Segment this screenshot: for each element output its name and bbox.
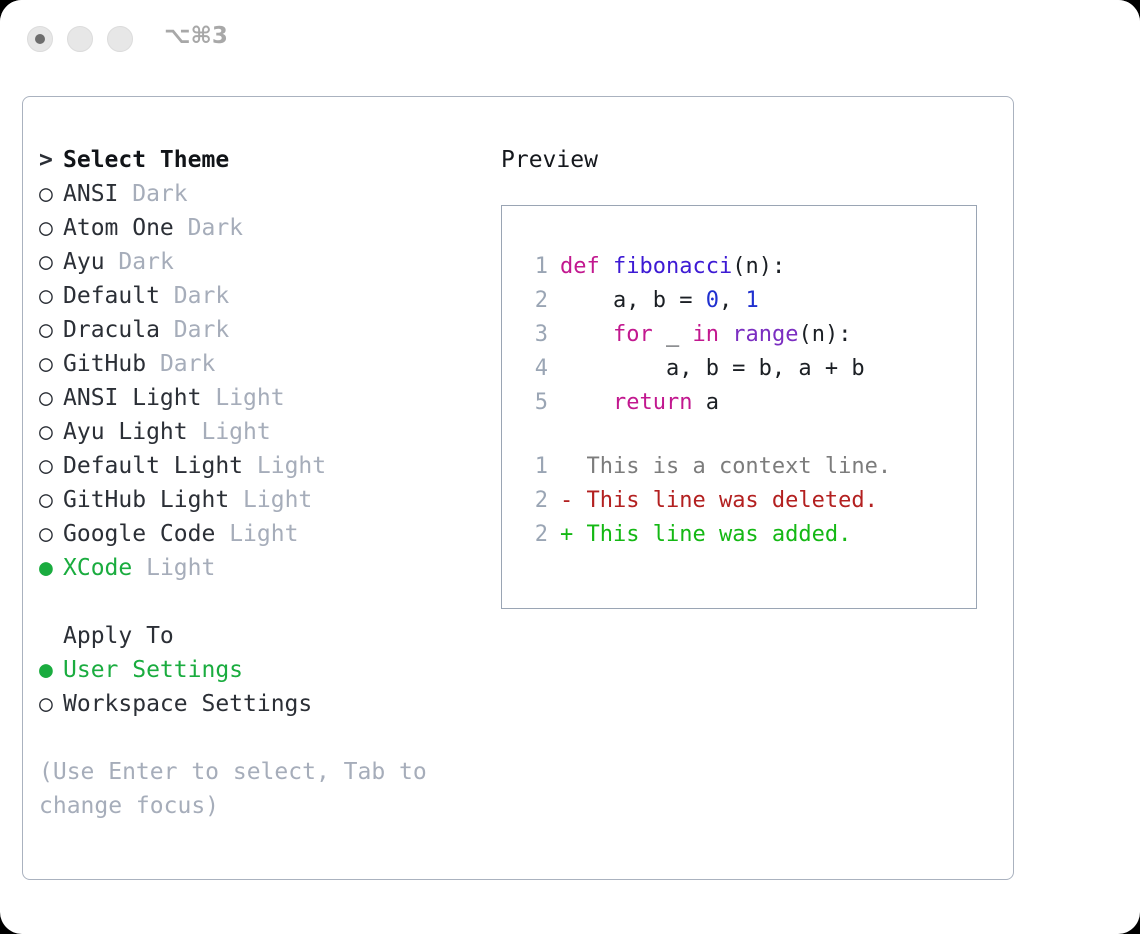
code-line: 1def fibonacci(n):	[520, 250, 976, 284]
theme-variant-label: Light	[229, 521, 298, 547]
code-token	[560, 322, 613, 347]
theme-variant-label: Light	[243, 487, 312, 513]
theme-name-label: Atom One	[63, 215, 174, 241]
heading-prefix-icon: >	[39, 143, 63, 177]
apply-to-heading-label: Apply To	[63, 623, 174, 649]
window-dot-two[interactable]	[67, 26, 93, 52]
theme-name-label: XCode	[63, 555, 132, 581]
theme-variant-label: Light	[215, 385, 284, 411]
radio-selected-icon: ●	[39, 551, 63, 585]
code-token: (n):	[798, 322, 851, 347]
theme-name-label: GitHub	[63, 351, 146, 377]
diff-marker	[560, 454, 573, 479]
theme-list-item[interactable]: ○GitHub Light Light	[39, 483, 479, 517]
code-line: 5 return a	[520, 386, 976, 420]
code-diff-separator	[520, 420, 976, 450]
theme-list-item[interactable]: ○Atom One Dark	[39, 211, 479, 245]
apply-to-option-label: Workspace Settings	[63, 691, 312, 717]
record-dot-button[interactable]	[27, 26, 53, 52]
theme-list-item[interactable]: ○ANSI Dark	[39, 177, 479, 211]
theme-list-item[interactable]: ○Ayu Dark	[39, 245, 479, 279]
line-number: 2	[520, 484, 548, 518]
code-token	[719, 322, 732, 347]
code-token: a, b = b, a + b	[560, 356, 865, 381]
diff-text: This line was added.	[573, 522, 851, 547]
code-sample: 1def fibonacci(n):2 a, b = 0, 13 for _ i…	[520, 250, 976, 420]
title-bar: ⌥⌘3	[0, 0, 1140, 78]
app-window: ⌥⌘3 >Select Theme ○ANSI Dark○Atom One Da…	[0, 0, 1140, 934]
line-number: 3	[520, 318, 548, 352]
diff-line: 2- This line was deleted.	[520, 484, 976, 518]
code-token: def	[560, 254, 613, 279]
theme-list-item[interactable]: ○Ayu Light Light	[39, 415, 479, 449]
theme-list-item[interactable]: ○Google Code Light	[39, 517, 479, 551]
code-token: (n):	[732, 254, 785, 279]
code-preview-panel: 1def fibonacci(n):2 a, b = 0, 13 for _ i…	[501, 205, 977, 609]
theme-variant-label: Dark	[132, 181, 187, 207]
diff-line: 2+ This line was added.	[520, 518, 976, 552]
preview-column: Preview 1def fibonacci(n):2 a, b = 0, 13…	[501, 143, 993, 609]
radio-unselected-icon: ○	[39, 517, 63, 551]
theme-variant-label: Dark	[188, 215, 243, 241]
code-token	[560, 390, 613, 415]
theme-list-item[interactable]: ○ANSI Light Light	[39, 381, 479, 415]
theme-name-label: Ayu	[63, 249, 105, 275]
theme-picker-column: >Select Theme ○ANSI Dark○Atom One Dark○A…	[39, 143, 479, 823]
theme-list-item[interactable]: ●XCode Light	[39, 551, 479, 585]
line-number: 5	[520, 386, 548, 420]
radio-unselected-icon: ○	[39, 279, 63, 313]
code-token: ,	[719, 288, 746, 313]
code-token: 0	[706, 288, 719, 313]
theme-list-item[interactable]: ○Default Dark	[39, 279, 479, 313]
theme-name-label: Default Light	[63, 453, 243, 479]
apply-to-heading: ○Apply To	[39, 619, 479, 653]
theme-list-item[interactable]: ○Default Light Light	[39, 449, 479, 483]
theme-variant-label: Dark	[160, 351, 215, 377]
theme-variant-label: Light	[257, 453, 326, 479]
diff-marker: +	[560, 522, 573, 547]
theme-list: ○ANSI Dark○Atom One Dark○Ayu Dark○Defaul…	[39, 177, 479, 585]
keyboard-hint-text: (Use Enter to select, Tab to change focu…	[39, 755, 459, 823]
theme-name-label: Default	[63, 283, 160, 309]
line-number: 4	[520, 352, 548, 386]
theme-name-label: ANSI	[63, 181, 118, 207]
diff-sample: 1 This is a context line.2- This line wa…	[520, 450, 976, 552]
apply-to-options: ●User Settings○Workspace Settings	[39, 653, 479, 721]
radio-unselected-icon: ○	[39, 211, 63, 245]
code-token: range	[732, 322, 798, 347]
radio-unselected-icon: ○	[39, 415, 63, 449]
line-number: 1	[520, 450, 548, 484]
code-token: return	[613, 390, 692, 415]
line-number: 2	[520, 284, 548, 318]
radio-unselected-icon: ○	[39, 313, 63, 347]
code-token: for	[613, 322, 653, 347]
preview-title: Preview	[501, 143, 993, 177]
theme-name-label: GitHub Light	[63, 487, 229, 513]
code-token: in	[692, 322, 719, 347]
window-dot-three[interactable]	[107, 26, 133, 52]
radio-unselected-icon: ○	[39, 177, 63, 211]
diff-line: 1 This is a context line.	[520, 450, 976, 484]
theme-variant-label: Dark	[174, 283, 229, 309]
code-token: fibonacci	[613, 254, 732, 279]
main-panel: >Select Theme ○ANSI Dark○Atom One Dark○A…	[22, 96, 1014, 880]
theme-name-label: ANSI Light	[63, 385, 201, 411]
theme-name-label: Dracula	[63, 317, 160, 343]
theme-list-item[interactable]: ○Dracula Dark	[39, 313, 479, 347]
radio-selected-icon: ●	[39, 653, 63, 687]
diff-marker: -	[560, 488, 573, 513]
radio-unselected-icon: ○	[39, 449, 63, 483]
code-token: _	[653, 322, 693, 347]
line-number: 2	[520, 518, 548, 552]
apply-to-option-label: User Settings	[63, 657, 243, 683]
code-token: a	[692, 390, 719, 415]
apply-to-option[interactable]: ●User Settings	[39, 653, 479, 687]
diff-text: This line was deleted.	[573, 488, 878, 513]
theme-list-item[interactable]: ○GitHub Dark	[39, 347, 479, 381]
record-dot-icon	[35, 34, 45, 44]
select-theme-heading: >Select Theme	[39, 143, 479, 177]
theme-variant-label: Dark	[174, 317, 229, 343]
code-token: 1	[745, 288, 758, 313]
radio-unselected-icon: ○	[39, 347, 63, 381]
keyboard-shortcut-label: ⌥⌘3	[164, 23, 228, 49]
theme-name-label: Google Code	[63, 521, 215, 547]
theme-name-label: Ayu Light	[63, 419, 188, 445]
diff-text: This is a context line.	[573, 454, 891, 479]
radio-unselected-icon: ○	[39, 245, 63, 279]
radio-unselected-icon: ○	[39, 483, 63, 517]
code-line: 3 for _ in range(n):	[520, 318, 976, 352]
apply-to-option[interactable]: ○Workspace Settings	[39, 687, 479, 721]
theme-variant-label: Light	[201, 419, 270, 445]
theme-variant-label: Light	[146, 555, 215, 581]
radio-unselected-icon: ○	[39, 687, 63, 721]
code-line: 2 a, b = 0, 1	[520, 284, 976, 318]
theme-variant-label: Dark	[118, 249, 173, 275]
code-line: 4 a, b = b, a + b	[520, 352, 976, 386]
code-token: a, b =	[560, 288, 706, 313]
radio-unselected-icon: ○	[39, 381, 63, 415]
line-number: 1	[520, 250, 548, 284]
select-theme-heading-label: Select Theme	[63, 147, 229, 173]
